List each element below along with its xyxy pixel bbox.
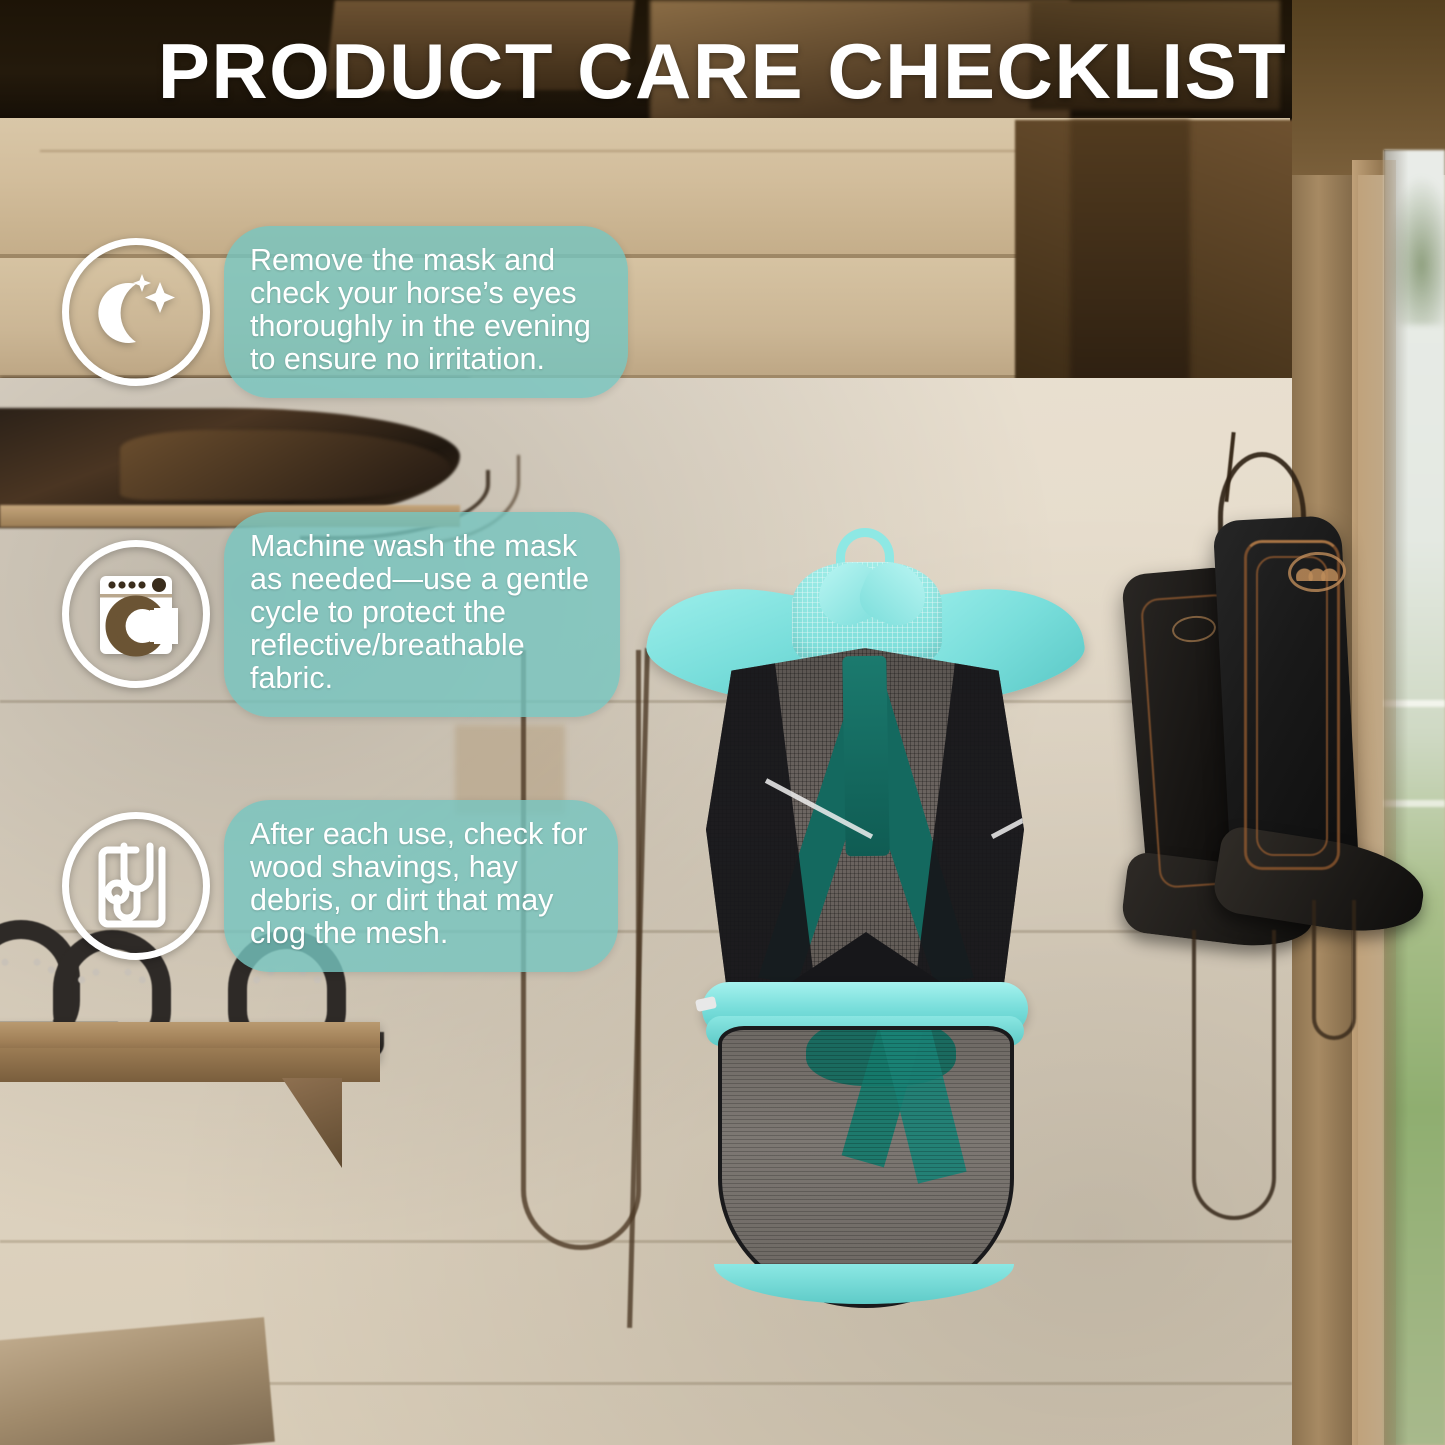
checklist-item-3: After each use, check for wood shavings,… — [62, 800, 618, 972]
doorway-trim — [1352, 160, 1396, 1445]
checklist-text-bubble-2: Machine wash the mask as needed—use a ge… — [224, 512, 620, 717]
checklist-item-1: Remove the mask and check your horse’s e… — [62, 226, 628, 398]
boot-trim-stitching — [1256, 556, 1328, 856]
mask-nose-mesh-texture — [722, 1030, 1010, 1304]
moon-stars-icon — [62, 238, 210, 386]
wooden-shelf-front — [0, 1048, 380, 1082]
horse-fly-mask-product — [640, 520, 1090, 1310]
product-care-infographic: PRODUCT CARE CHECKLIST Remove the mask a… — [0, 0, 1445, 1445]
stethoscope-inspection-icon — [62, 812, 210, 960]
checklist-text-bubble-1: Remove the mask and check your horse’s e… — [224, 226, 628, 398]
hanging-rein-right — [1312, 900, 1356, 1040]
boot-logo-mark — [1296, 561, 1338, 581]
mask-mesh-body — [706, 648, 1024, 1026]
checklist-text-bubble-3: After each use, check for wood shavings,… — [224, 800, 618, 972]
hanging-rein-right — [1192, 930, 1276, 1220]
wooden-crate — [0, 1317, 275, 1445]
checklist-item-2: Machine wash the mask as needed—use a ge… — [62, 512, 620, 717]
dark-wood-post — [1070, 120, 1190, 382]
page-title: PRODUCT CARE CHECKLIST — [0, 26, 1445, 117]
wood-grain-line — [40, 150, 1160, 152]
washing-machine-icon — [62, 540, 210, 688]
